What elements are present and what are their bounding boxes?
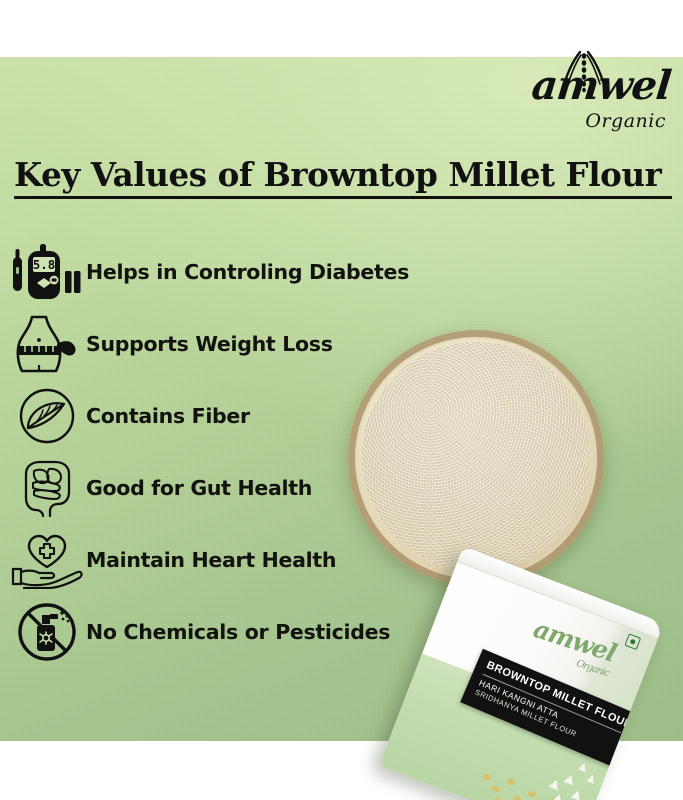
infographic-poster: amwel Organic Key Values of Browntop Mil… [0, 0, 683, 800]
intestines-icon [8, 457, 86, 519]
brand-tagline: Organic [498, 110, 666, 132]
list-item: Maintain Heart Health [0, 524, 460, 596]
brand-logo: amwel Organic [498, 66, 670, 148]
benefits-list: 5.8 Helps in Controling Diabetes [0, 236, 460, 668]
benefit-label: Helps in Controling Diabetes [86, 260, 409, 284]
list-item: Contains Fiber [0, 380, 460, 452]
list-item: Good for Gut Health [0, 452, 460, 524]
list-item: Supports Weight Loss [0, 308, 460, 380]
no-pesticide-spray-icon [8, 601, 86, 663]
leaf-in-circle-icon [8, 385, 86, 447]
list-item: No Chemicals or Pesticides [0, 596, 460, 668]
benefit-label: Maintain Heart Health [86, 548, 336, 572]
svg-text:5.8: 5.8 [33, 257, 56, 272]
product-packet: amwel Organic BROWNTOP MILLET FLOUR HARI… [452, 560, 683, 800]
benefit-label: Supports Weight Loss [86, 332, 333, 356]
packet-brand-logo: amwel Organic [526, 614, 619, 679]
benefit-label: No Chemicals or Pesticides [86, 620, 390, 644]
glucometer-icon: 5.8 [8, 241, 86, 303]
page-title: Key Values of Browntop Millet Flour [14, 155, 674, 194]
benefit-label: Contains Fiber [86, 404, 250, 428]
hand-holding-heart-icon [8, 529, 86, 591]
list-item: 5.8 Helps in Controling Diabetes [0, 236, 460, 308]
title-underline [14, 196, 672, 199]
wheat-stalk-icon [556, 50, 612, 94]
benefit-label: Good for Gut Health [86, 476, 312, 500]
fssai-green-dot-icon [624, 633, 641, 650]
waist-measuring-tape-icon [8, 313, 86, 375]
